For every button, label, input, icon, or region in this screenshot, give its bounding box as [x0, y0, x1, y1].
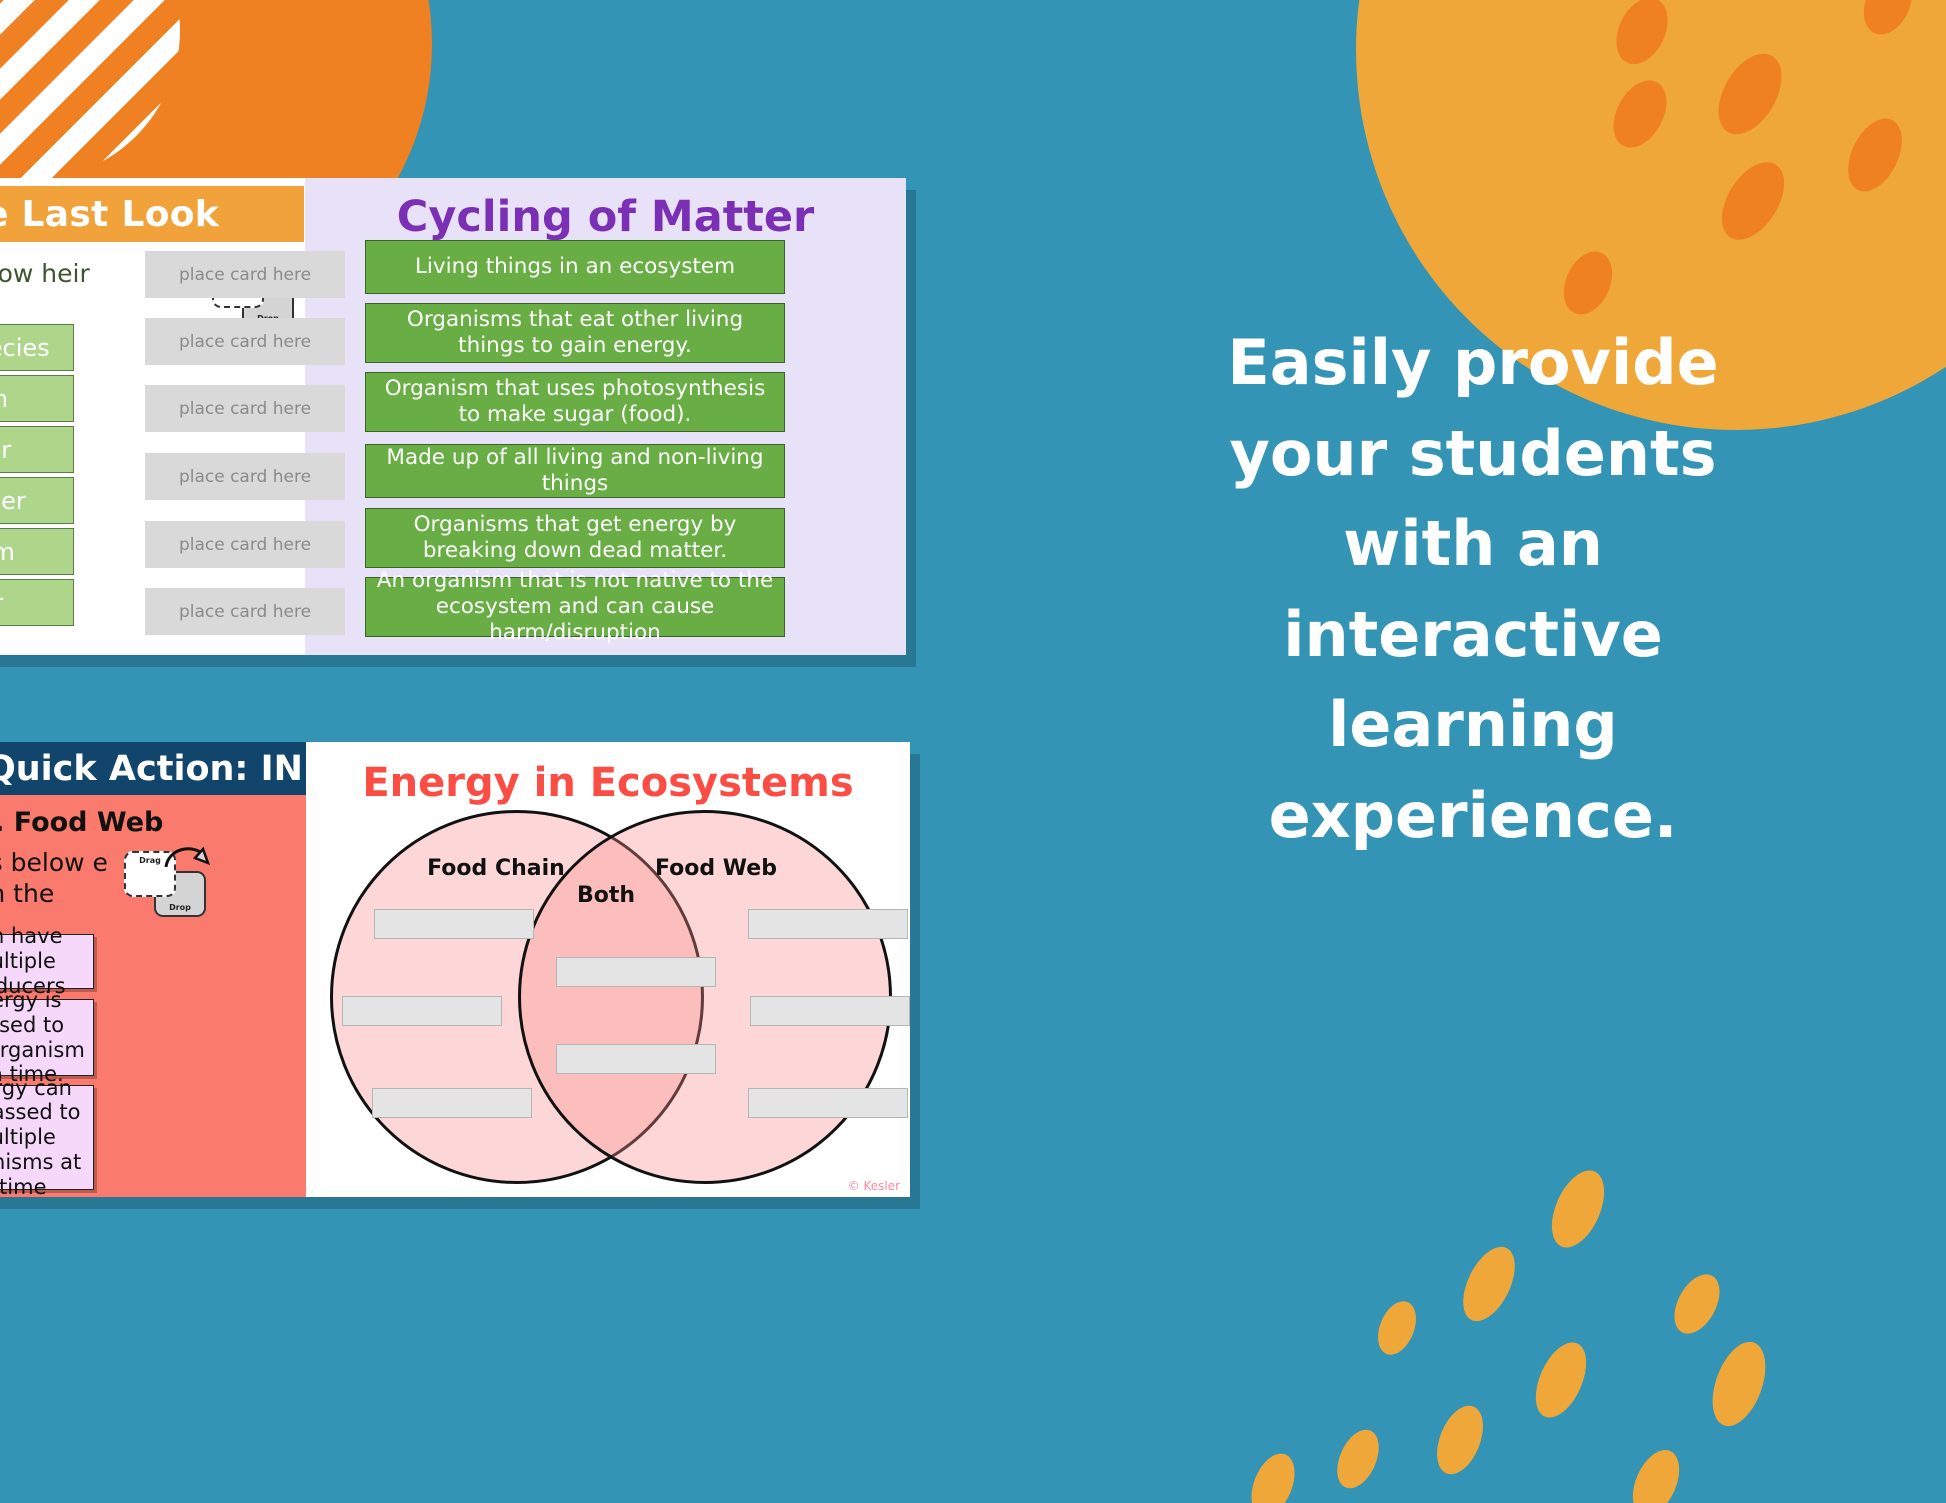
word-chip[interactable]: Consumer [0, 426, 74, 473]
last-look-banner: e Last Look [0, 186, 304, 242]
drop-slot[interactable]: place card here [145, 251, 345, 298]
definition-card: Made up of all living and non-living thi… [365, 444, 785, 498]
venn-drop-slot[interactable] [748, 909, 908, 939]
bottom-card-left-pane: Quick Action: INB od Chain vs. Food Web … [0, 742, 306, 1197]
marketing-line: with an [1000, 499, 1946, 590]
venn-label-left: Food Chain [416, 856, 576, 881]
statement-chip[interactable]: Energy is passed to one organism at a ti… [0, 999, 94, 1076]
venn-drop-slot[interactable] [750, 996, 910, 1026]
marketing-line: experience. [1000, 771, 1946, 862]
cycling-of-matter-slide: e Last Look the words below heir definit… [0, 178, 906, 655]
energy-in-ecosystems-slide: Quick Action: INB od Chain vs. Food Web … [0, 742, 910, 1197]
decorative-dot [1854, 0, 1921, 42]
venn-drop-slot[interactable] [374, 909, 534, 939]
venn-drop-slot[interactable] [556, 957, 716, 987]
word-chip[interactable]: Producer [0, 579, 74, 626]
decorative-dot [1243, 1447, 1303, 1503]
word-chip[interactable]: Organism [0, 375, 74, 422]
bottom-card-right-pane: Energy in Ecosystems Food Chain Both Foo… [306, 742, 910, 1197]
word-chip[interactable]: Ecosystem [0, 528, 74, 575]
decorative-dot [1329, 1423, 1387, 1494]
venn-drop-slot[interactable] [748, 1088, 908, 1118]
bottom-card-subtitle: od Chain vs. Food Web [0, 807, 288, 838]
decorative-dot [1709, 151, 1797, 250]
venn-label-center: Both [531, 883, 681, 908]
page-title: Cycling of Matter [305, 192, 906, 242]
venn-drop-slot[interactable] [342, 996, 502, 1026]
top-left-stripe-pattern [0, 0, 180, 180]
marketing-line: Easily provide [1000, 318, 1946, 409]
decorative-dot [1541, 1163, 1615, 1256]
decorative-dot [1702, 1335, 1775, 1433]
word-chip[interactable]: Invasive Species [0, 324, 74, 371]
decorative-dot [1371, 1296, 1424, 1361]
decorative-dot [1606, 0, 1677, 72]
word-chip[interactable]: Decomposer [0, 477, 74, 524]
top-card-right-pane: Cycling of Matter place card here place … [305, 178, 906, 655]
drop-slot[interactable]: place card here [145, 521, 345, 568]
statement-chip[interactable]: Can have multiple producers [0, 934, 94, 989]
decorative-dot [1837, 110, 1913, 200]
decorative-dot [1526, 1335, 1597, 1425]
decorative-dot [1453, 1239, 1526, 1329]
definition-card: Organism that uses photosynthesis to mak… [365, 372, 785, 432]
drop-slot[interactable]: place card here [145, 318, 345, 365]
definition-card: An organism that is not native to the ec… [365, 577, 785, 637]
drop-slot[interactable]: place card here [145, 385, 345, 432]
last-look-banner-title: e Last Look [0, 194, 219, 235]
venn-title: Energy in Ecosystems [306, 760, 910, 806]
drag-drop-icon: Drop Drag [122, 847, 212, 921]
decorative-dot [1665, 1267, 1729, 1341]
drop-slot[interactable]: place card here [145, 453, 345, 500]
definition-card: Organisms that get energy by breaking do… [365, 508, 785, 568]
marketing-line: interactive [1000, 590, 1946, 681]
decorative-dot [1623, 1443, 1688, 1503]
bottom-card-pink-pane: od Chain vs. Food Web the statements bel… [0, 795, 306, 1197]
marketing-line: learning [1000, 680, 1946, 771]
venn-label-right: Food Web [636, 856, 796, 881]
venn-drop-slot[interactable] [372, 1088, 532, 1118]
decorative-dot [1705, 43, 1794, 145]
decorative-dot [1554, 244, 1621, 322]
marketing-line: your students [1000, 409, 1946, 500]
top-card-instructions: the words below heir definitions. [0, 258, 158, 322]
copyright-watermark: © Kesler [848, 1179, 900, 1193]
decorative-dot [1603, 71, 1677, 156]
venn-diagram: Food Chain Both Food Web [306, 810, 910, 1197]
marketing-headline: Easily provide your students with an int… [1000, 318, 1946, 861]
quick-action-banner-title: Quick Action: INB [0, 749, 330, 789]
venn-drop-slot[interactable] [556, 1044, 716, 1074]
definition-card: Organisms that eat other living things t… [365, 303, 785, 363]
definition-card: Living things in an ecosystem [365, 240, 785, 294]
drop-slot[interactable]: place card here [145, 588, 345, 635]
quick-action-banner: Quick Action: INB [0, 742, 306, 795]
curved-arrow-icon [162, 841, 214, 881]
statement-chip[interactable]: Energy can be passed to multiple organis… [0, 1085, 94, 1190]
decorative-dot [1428, 1399, 1492, 1481]
